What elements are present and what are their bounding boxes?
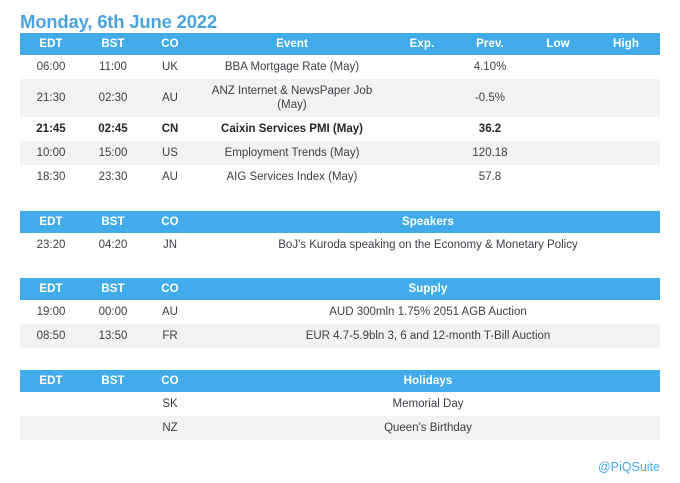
cell-edt: 10:00 — [20, 141, 82, 165]
col-header-bst[interactable]: BST — [82, 278, 144, 300]
table-row[interactable]: 21:30 02:30 AU ANZ Internet & NewsPaper … — [20, 79, 660, 117]
cell-co: NZ — [144, 416, 196, 440]
col-header-speakers[interactable]: Speakers — [196, 211, 660, 233]
cell-edt: 21:45 — [20, 117, 82, 141]
cell-event: Caixin Services PMI (May) — [196, 117, 388, 141]
cell-low — [524, 165, 592, 189]
page-title: Monday, 6th June 2022 — [20, 0, 660, 33]
cell-co: AU — [144, 300, 196, 324]
col-header-co[interactable]: CO — [144, 211, 196, 233]
cell-high — [592, 165, 660, 189]
cell-supply: AUD 300mln 1.75% 2051 AGB Auction — [196, 300, 660, 324]
table-row[interactable]: 06:00 11:00 UK BBA Mortgage Rate (May) 4… — [20, 55, 660, 79]
speakers-header-row: EDT BST CO Speakers — [20, 211, 660, 233]
col-header-bst[interactable]: BST — [82, 33, 144, 55]
col-header-event[interactable]: Event — [196, 33, 388, 55]
cell-edt: 19:00 — [20, 300, 82, 324]
cell-event: ANZ Internet & NewsPaper Job (May) — [196, 79, 388, 117]
cell-bst: 23:30 — [82, 165, 144, 189]
col-header-supply[interactable]: Supply — [196, 278, 660, 300]
cell-speaker: BoJ's Kuroda speaking on the Economy & M… — [196, 233, 660, 257]
cell-event: BBA Mortgage Rate (May) — [196, 55, 388, 79]
table-row[interactable]: 21:45 02:45 CN Caixin Services PMI (May)… — [20, 117, 660, 141]
cell-bst: 02:45 — [82, 117, 144, 141]
section-divider — [20, 257, 660, 278]
col-header-edt[interactable]: EDT — [20, 33, 82, 55]
cell-exp — [388, 79, 456, 117]
supply-header-row: EDT BST CO Supply — [20, 278, 660, 300]
cell-bst: 13:50 — [82, 324, 144, 348]
table-row[interactable]: SK Memorial Day — [20, 392, 660, 416]
cell-high — [592, 117, 660, 141]
cell-low — [524, 141, 592, 165]
cell-co: UK — [144, 55, 196, 79]
cell-bst — [82, 416, 144, 440]
cell-co: FR — [144, 324, 196, 348]
cell-low — [524, 79, 592, 117]
cell-low — [524, 117, 592, 141]
cell-event: Employment Trends (May) — [196, 141, 388, 165]
cell-bst — [82, 392, 144, 416]
supply-table: EDT BST CO Supply 19:00 00:00 AU AUD 300… — [20, 278, 660, 348]
cell-edt: 23:20 — [20, 233, 82, 257]
col-header-co[interactable]: CO — [144, 278, 196, 300]
events-header-row: EDT BST CO Event Exp. Prev. Low High — [20, 33, 660, 55]
col-header-high[interactable]: High — [592, 33, 660, 55]
cell-holiday: Queen's Birthday — [196, 416, 660, 440]
section-divider — [20, 348, 660, 370]
cell-bst: 00:00 — [82, 300, 144, 324]
cell-co: AU — [144, 165, 196, 189]
col-header-prev[interactable]: Prev. — [456, 33, 524, 55]
col-header-bst[interactable]: BST — [82, 370, 144, 392]
col-header-co[interactable]: CO — [144, 33, 196, 55]
cell-high — [592, 79, 660, 117]
cell-low — [524, 55, 592, 79]
economic-calendar-page: Monday, 6th June 2022 EDT BST CO Event E… — [0, 0, 680, 483]
cell-bst: 02:30 — [82, 79, 144, 117]
watermark: @PiQSuite — [598, 459, 660, 475]
holidays-header-row: EDT BST CO Holidays — [20, 370, 660, 392]
col-header-edt[interactable]: EDT — [20, 211, 82, 233]
cell-co: JN — [144, 233, 196, 257]
cell-high — [592, 55, 660, 79]
table-row[interactable]: 18:30 23:30 AU AIG Services Index (May) … — [20, 165, 660, 189]
cell-edt: 08:50 — [20, 324, 82, 348]
cell-co: CN — [144, 117, 196, 141]
table-row[interactable]: 08:50 13:50 FR EUR 4.7-5.9bln 3, 6 and 1… — [20, 324, 660, 348]
cell-exp — [388, 165, 456, 189]
cell-supply: EUR 4.7-5.9bln 3, 6 and 12-month T-Bill … — [196, 324, 660, 348]
cell-event: AIG Services Index (May) — [196, 165, 388, 189]
cell-exp — [388, 55, 456, 79]
cell-co: US — [144, 141, 196, 165]
section-divider — [20, 189, 660, 211]
holidays-table: EDT BST CO Holidays SK Memorial Day NZ Q… — [20, 370, 660, 440]
col-header-bst[interactable]: BST — [82, 211, 144, 233]
cell-holiday: Memorial Day — [196, 392, 660, 416]
cell-edt: 18:30 — [20, 165, 82, 189]
cell-edt — [20, 416, 82, 440]
cell-exp — [388, 141, 456, 165]
col-header-edt[interactable]: EDT — [20, 370, 82, 392]
table-row[interactable]: NZ Queen's Birthday — [20, 416, 660, 440]
cell-bst: 04:20 — [82, 233, 144, 257]
cell-edt: 21:30 — [20, 79, 82, 117]
table-row[interactable]: 23:20 04:20 JN BoJ's Kuroda speaking on … — [20, 233, 660, 257]
col-header-holidays[interactable]: Holidays — [196, 370, 660, 392]
cell-high — [592, 141, 660, 165]
cell-edt: 06:00 — [20, 55, 82, 79]
cell-exp — [388, 117, 456, 141]
col-header-edt[interactable]: EDT — [20, 278, 82, 300]
speakers-table: EDT BST CO Speakers 23:20 04:20 JN BoJ's… — [20, 211, 660, 257]
cell-edt — [20, 392, 82, 416]
col-header-exp[interactable]: Exp. — [388, 33, 456, 55]
cell-prev: 120.18 — [456, 141, 524, 165]
table-row[interactable]: 19:00 00:00 AU AUD 300mln 1.75% 2051 AGB… — [20, 300, 660, 324]
cell-co: AU — [144, 79, 196, 117]
cell-bst: 15:00 — [82, 141, 144, 165]
cell-prev: 4.10% — [456, 55, 524, 79]
cell-prev: 36.2 — [456, 117, 524, 141]
cell-prev: -0.5% — [456, 79, 524, 117]
events-table: EDT BST CO Event Exp. Prev. Low High 06:… — [20, 33, 660, 189]
col-header-co[interactable]: CO — [144, 370, 196, 392]
cell-prev: 57.8 — [456, 165, 524, 189]
table-row[interactable]: 10:00 15:00 US Employment Trends (May) 1… — [20, 141, 660, 165]
col-header-low[interactable]: Low — [524, 33, 592, 55]
cell-bst: 11:00 — [82, 55, 144, 79]
cell-co: SK — [144, 392, 196, 416]
